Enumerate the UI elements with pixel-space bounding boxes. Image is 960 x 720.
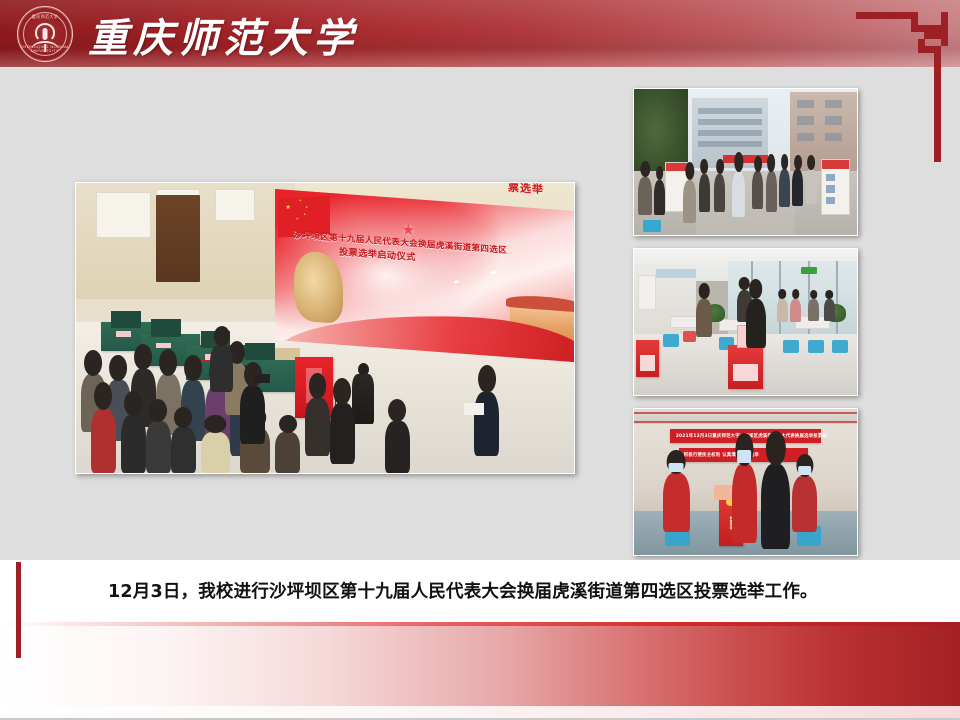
table-ballot-box bbox=[111, 311, 141, 328]
wall-poster bbox=[215, 189, 255, 221]
photo-campus-queue-outdoor bbox=[633, 88, 858, 236]
attendee bbox=[201, 432, 231, 473]
wall-signage bbox=[656, 269, 696, 278]
ballot-box-secondary bbox=[636, 340, 658, 378]
attendee bbox=[385, 421, 410, 473]
bottom-gradient-band bbox=[0, 622, 960, 720]
pedestrian bbox=[714, 174, 725, 212]
stone-lion-graphic bbox=[294, 250, 343, 323]
red-stool bbox=[683, 331, 696, 343]
blue-stool bbox=[643, 220, 661, 232]
dove-graphic bbox=[454, 280, 459, 283]
pedestrian bbox=[752, 171, 763, 209]
pedestrian bbox=[792, 169, 803, 206]
candidate-photo bbox=[826, 197, 835, 204]
passerby bbox=[777, 299, 788, 322]
volunteer-seated bbox=[792, 476, 817, 531]
caption-text: 12月3日，我校进行沙坪坝区第十九届人民代表大会换届虎溪街道第四选区投票选举工作… bbox=[108, 578, 908, 603]
banner-star-icon: ★ bbox=[402, 222, 415, 238]
university-logo-icon: 重庆师范大学 CHONGQING NORMAL UNIVERSITY bbox=[17, 6, 73, 62]
pedestrian bbox=[638, 177, 651, 215]
logo-ring-top-label: 重庆师范大学 bbox=[18, 15, 72, 19]
table-ballot-box bbox=[245, 343, 275, 360]
exit-sign-icon bbox=[801, 267, 817, 274]
voter-casting-ballot bbox=[746, 299, 766, 349]
pedestrian bbox=[654, 180, 665, 215]
attendee bbox=[91, 409, 116, 473]
candidate-photo bbox=[826, 185, 835, 192]
university-name-title: 重庆师范大学 bbox=[88, 6, 358, 64]
ballot-box-primary bbox=[728, 345, 764, 389]
camera-icon bbox=[255, 374, 270, 383]
volunteer-seated bbox=[663, 473, 690, 531]
photo-voting-ceremony-hall: ★ ★ ★ ★ ★ ★ 沙坪坝区第十九届人民代表大会换届虎溪街道第四选区 投票选… bbox=[75, 182, 575, 474]
attendee bbox=[146, 421, 171, 473]
blue-stool bbox=[663, 334, 679, 347]
attendee bbox=[275, 432, 300, 473]
attendee bbox=[305, 398, 330, 456]
pedestrian bbox=[699, 174, 710, 212]
pedestrian bbox=[779, 169, 790, 207]
attendee bbox=[121, 415, 146, 473]
passerby bbox=[790, 299, 801, 322]
table-name-card bbox=[156, 343, 171, 349]
passerby bbox=[824, 299, 835, 321]
photo-indoor-ballot-casting bbox=[633, 248, 858, 396]
gym-banner-top-text: 2021年12月3日重庆师范大学沙坪坝区虎溪街道人大代表换届选举投票站 bbox=[676, 433, 827, 439]
attendee bbox=[210, 345, 232, 391]
presentation-slide: 重庆师范大学 CHONGQING NORMAL UNIVERSITY 重庆师范大… bbox=[0, 0, 960, 720]
pedestrian bbox=[766, 171, 777, 212]
blue-stool bbox=[832, 340, 848, 353]
notice-board bbox=[638, 275, 656, 310]
upper-wall-text: 票选举 bbox=[508, 182, 544, 197]
photographer bbox=[240, 386, 265, 444]
voter-waiting bbox=[761, 464, 790, 549]
hall-door bbox=[156, 195, 201, 282]
logo-ring-bottom-label: CHONGQING NORMAL UNIVERSITY bbox=[18, 45, 72, 53]
pedestrian bbox=[732, 171, 745, 218]
blue-stool bbox=[783, 340, 799, 353]
attendee bbox=[330, 403, 355, 464]
attendee bbox=[171, 427, 196, 473]
document-sheet bbox=[464, 403, 484, 415]
slide-header: 重庆师范大学 CHONGQING NORMAL UNIVERSITY 重庆师范大… bbox=[0, 0, 960, 67]
speaker-at-podium bbox=[352, 363, 374, 424]
logo-flame-icon bbox=[35, 23, 55, 42]
passerby bbox=[808, 299, 819, 321]
table-ballot-box bbox=[151, 319, 181, 336]
pedestrian bbox=[806, 169, 817, 204]
blue-stool bbox=[808, 340, 824, 353]
photo-gymnasium-polling-station: 2021年12月3日重庆师范大学沙坪坝区虎溪街道人大代表换届选举投票站 积极行使… bbox=[633, 408, 858, 556]
top-right-corner-decoration bbox=[856, 12, 948, 162]
voter-casting-ballot bbox=[732, 464, 757, 543]
candidate-photo bbox=[826, 174, 835, 181]
speaker-body bbox=[352, 374, 374, 424]
table-name-card bbox=[116, 331, 131, 337]
stage-led-banner: ★ ★ ★ ★ ★ ★ 沙坪坝区第十九届人民代表大会换届虎溪街道第四选区 投票选… bbox=[275, 189, 575, 362]
pedestrian bbox=[683, 180, 696, 224]
staff-member bbox=[696, 299, 712, 337]
staff-member bbox=[474, 392, 499, 456]
wall-poster bbox=[96, 192, 151, 238]
caption-accent-bar bbox=[16, 562, 21, 658]
